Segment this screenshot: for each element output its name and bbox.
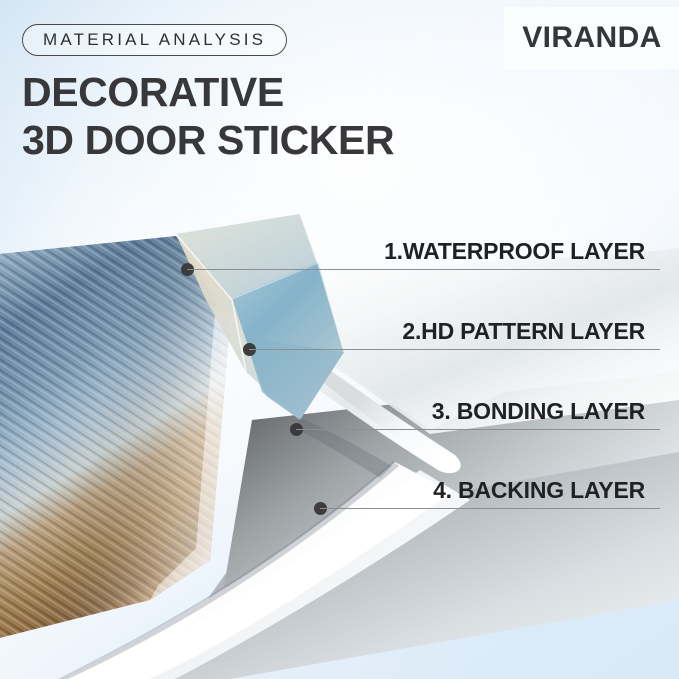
material-analysis-badge: MATERIAL ANALYSIS — [22, 24, 287, 56]
page-title: DECORATIVE 3D DOOR STICKER — [22, 68, 394, 164]
badge-label: MATERIAL ANALYSIS — [43, 30, 266, 50]
brand-logo: VIRANDA — [505, 8, 679, 68]
background-glow-left — [0, 120, 360, 540]
brand-logo-text: VIRANDA — [522, 21, 661, 55]
callout-label-bonding: 3. BONDING LAYER — [432, 398, 645, 425]
callout-leader-line-waterproof — [187, 269, 660, 270]
headline-line-1: DECORATIVE — [22, 69, 284, 115]
callout-label-hd-pattern: 2.HD PATTERN LAYER — [402, 318, 645, 345]
headline-line-2: 3D DOOR STICKER — [22, 116, 394, 164]
callout-leader-line-hd-pattern — [249, 349, 660, 350]
callout-leader-line-bonding — [296, 429, 660, 430]
callout-leader-line-backing — [320, 508, 660, 509]
callout-label-waterproof: 1.WATERPROOF LAYER — [384, 238, 645, 265]
callout-label-backing: 4. BACKING LAYER — [433, 477, 645, 504]
product-infographic-poster: MATERIAL ANALYSIS DECORATIVE 3D DOOR STI… — [0, 0, 679, 679]
